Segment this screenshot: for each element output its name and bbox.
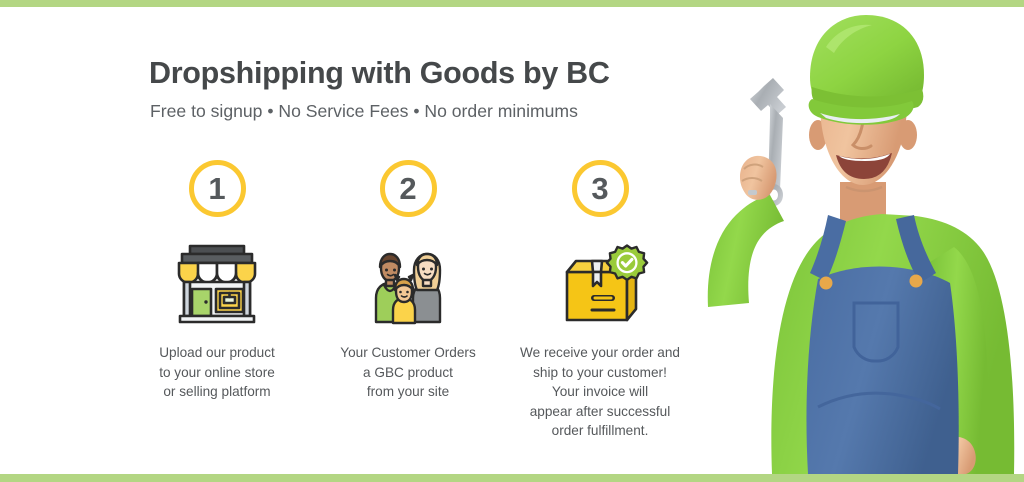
- steps-list: 1: [140, 155, 720, 430]
- overalls-button-right: [910, 275, 923, 288]
- step-number-badge: 1: [189, 160, 246, 217]
- caption-line: from your site: [308, 382, 508, 402]
- worker-photo: [700, 7, 1024, 474]
- page-title: Dropshipping with Goods by BC: [149, 56, 610, 91]
- overalls-button-left: [820, 277, 833, 290]
- step-caption: We receive your order and ship to your c…: [500, 343, 700, 441]
- step-number: 1: [208, 173, 225, 204]
- bottom-accent-bar: [0, 474, 1024, 482]
- family-icon: [308, 240, 508, 330]
- promo-banner: Dropshipping with Goods by BC Free to si…: [0, 0, 1024, 482]
- caption-line: ship to your customer!: [500, 363, 700, 383]
- step-item-3: 3: [500, 155, 700, 441]
- step-number: 3: [591, 173, 608, 204]
- caption-line: Your invoice will: [500, 382, 700, 402]
- page-subtitle: Free to signup • No Service Fees • No or…: [150, 101, 578, 122]
- caption-line: order fulfillment.: [500, 421, 700, 441]
- storefront-icon: [117, 240, 317, 330]
- caption-line: Upload our product: [117, 343, 317, 363]
- caption-line: a GBC product: [308, 363, 508, 383]
- step-number: 2: [399, 173, 416, 204]
- step-item-2: 2: [308, 155, 508, 402]
- caption-line: appear after successful: [500, 402, 700, 422]
- step-caption: Upload our product to your online store …: [117, 343, 317, 402]
- step-caption: Your Customer Orders a GBC product from …: [308, 343, 508, 402]
- step-number-badge: 3: [572, 160, 629, 217]
- caption-line: We receive your order and: [500, 343, 700, 363]
- step-number-badge: 2: [380, 160, 437, 217]
- caption-line: to your online store: [117, 363, 317, 383]
- caption-line: Your Customer Orders: [308, 343, 508, 363]
- overalls-bib: [806, 267, 958, 475]
- top-accent-bar: [0, 0, 1024, 7]
- step-item-1: 1: [117, 155, 317, 402]
- caption-line: or selling platform: [117, 382, 317, 402]
- left-sleeve: [708, 195, 784, 307]
- package-verified-icon: [500, 240, 700, 330]
